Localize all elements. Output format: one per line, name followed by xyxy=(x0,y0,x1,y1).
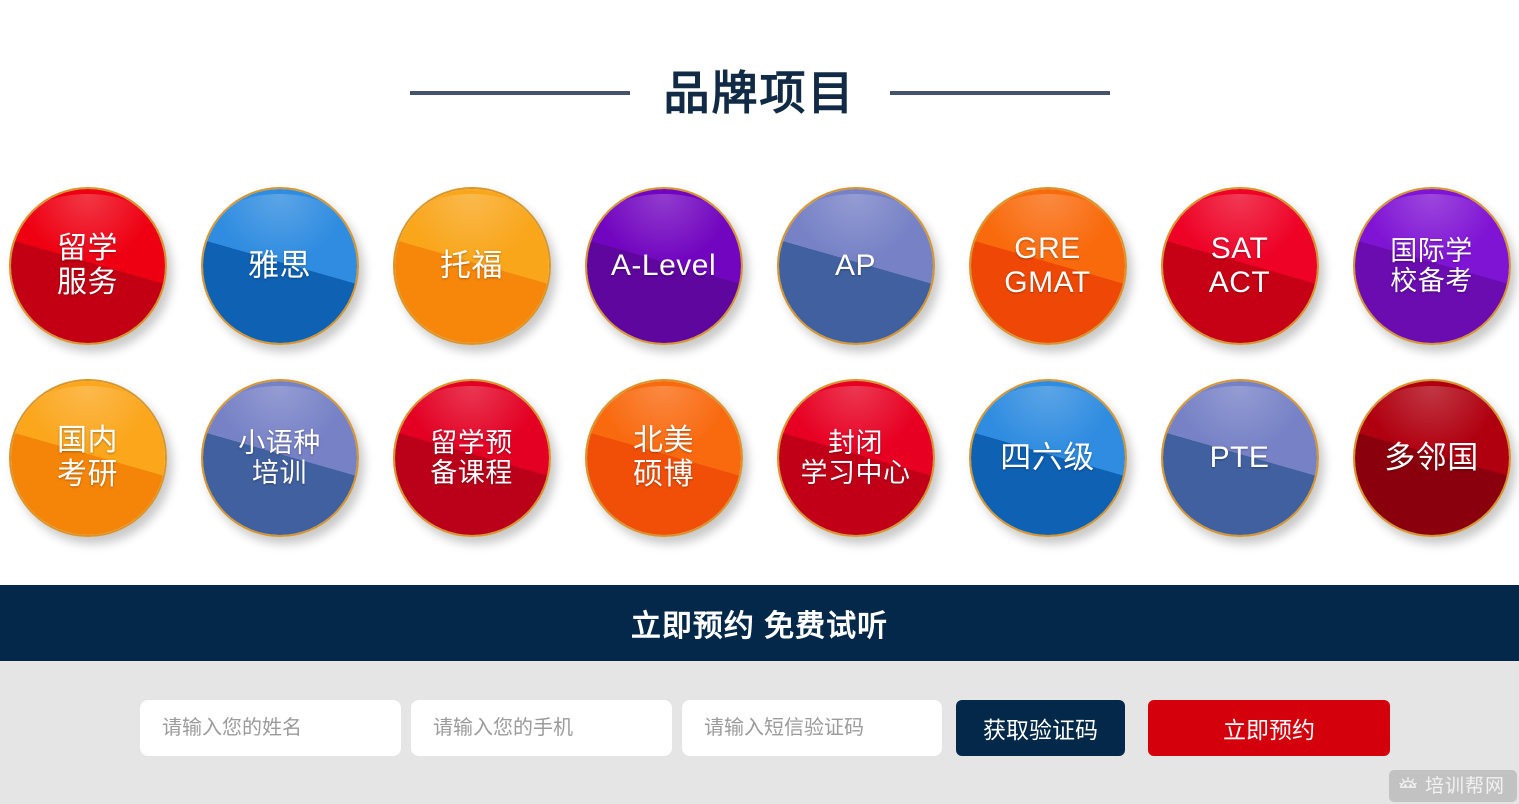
program-badge-label-line: 托福 xyxy=(440,249,503,284)
program-badge-label-line: 考研 xyxy=(57,458,118,492)
program-badge-label-line: GRE xyxy=(1004,232,1090,266)
program-badge-label-line: 四六级 xyxy=(1000,441,1095,476)
watermark-label: 培训帮网 xyxy=(1425,777,1505,796)
program-badge-label-line: 小语种 xyxy=(238,428,321,458)
program-badge-封闭学习中心[interactable]: 封闭学习中心 xyxy=(777,379,935,537)
program-badge-label-line: 国际学 xyxy=(1390,236,1473,266)
program-badge-label: PTE xyxy=(1210,441,1270,475)
program-badge-label: 封闭学习中心 xyxy=(801,428,911,488)
program-badge-label-line: AP xyxy=(835,249,876,283)
program-badge-多邻国[interactable]: 多邻国 xyxy=(1353,379,1511,537)
program-badge-gregmat[interactable]: GREGMAT xyxy=(969,187,1127,345)
program-badge-label-line: 封闭 xyxy=(801,428,911,458)
program-badge-label-line: 留学 xyxy=(57,232,118,266)
get-sms-code-button[interactable]: 获取验证码 xyxy=(956,700,1125,756)
program-badge-label: 四六级 xyxy=(1000,441,1095,476)
program-badge-label-line: A-Level xyxy=(611,249,716,283)
program-badge-label-line: PTE xyxy=(1210,441,1270,475)
program-badge-label: 留学预备课程 xyxy=(430,428,513,488)
program-badge-label: 留学服务 xyxy=(57,232,118,299)
program-badge-pte[interactable]: PTE xyxy=(1161,379,1319,537)
program-badge-小语种培训[interactable]: 小语种培训 xyxy=(201,379,359,537)
heading-rule-left xyxy=(410,91,630,95)
sun-face-icon xyxy=(1398,776,1418,796)
program-badge-ap[interactable]: AP xyxy=(777,187,935,345)
program-badges-row-1: 留学服务雅思托福A-LevelAPGREGMATSATACT国际学校备考 xyxy=(0,181,1519,351)
program-badge-label: 托福 xyxy=(440,249,503,284)
program-badge-label-line: 雅思 xyxy=(248,249,311,284)
program-badge-label: 国际学校备考 xyxy=(1390,236,1473,296)
phone-input[interactable] xyxy=(411,700,672,756)
program-badge-label: AP xyxy=(835,249,876,283)
cta-banner: 立即预约 免费试听 xyxy=(0,585,1519,661)
heading-rule-right xyxy=(890,91,1110,95)
program-badges-grid: 留学服务雅思托福A-LevelAPGREGMATSATACT国际学校备考 国内考… xyxy=(0,176,1519,558)
page-title: 品牌项目 xyxy=(664,70,856,116)
program-badge-label-line: 多邻国 xyxy=(1384,441,1479,476)
program-badge-雅思[interactable]: 雅思 xyxy=(201,187,359,345)
program-badge-label: GREGMAT xyxy=(1004,232,1090,299)
program-badge-label: 北美硕博 xyxy=(633,424,694,491)
booking-form-strip: 获取验证码 立即预约 xyxy=(0,661,1519,804)
program-badge-label-line: 校备考 xyxy=(1390,266,1473,296)
program-badge-a-level[interactable]: A-Level xyxy=(585,187,743,345)
program-badge-satact[interactable]: SATACT xyxy=(1161,187,1319,345)
cta-banner-text: 立即预约 免费试听 xyxy=(631,601,888,645)
program-badge-北美硕博[interactable]: 北美硕博 xyxy=(585,379,743,537)
program-badge-label-line: 硕博 xyxy=(633,458,694,492)
program-badge-托福[interactable]: 托福 xyxy=(393,187,551,345)
program-badge-label-line: 培训 xyxy=(238,458,321,488)
program-badge-label-line: 服务 xyxy=(57,266,118,300)
brand-programs-page: 品牌项目 留学服务雅思托福A-LevelAPGREGMATSATACT国际学校备… xyxy=(0,0,1519,804)
program-badge-label-line: 北美 xyxy=(633,424,694,458)
program-badge-留学预备课程[interactable]: 留学预备课程 xyxy=(393,379,551,537)
program-badge-label-line: ACT xyxy=(1209,266,1271,300)
program-badge-label: 雅思 xyxy=(248,249,311,284)
program-badge-label: 国内考研 xyxy=(57,424,118,491)
program-badge-label-line: SAT xyxy=(1209,232,1271,266)
sms-code-input[interactable] xyxy=(682,700,942,756)
program-badge-label: 小语种培训 xyxy=(238,428,321,488)
program-badge-label: 多邻国 xyxy=(1384,441,1479,476)
program-badge-label: SATACT xyxy=(1209,232,1271,299)
program-badge-国内考研[interactable]: 国内考研 xyxy=(9,379,167,537)
program-badge-label-line: GMAT xyxy=(1004,266,1090,300)
program-badge-四六级[interactable]: 四六级 xyxy=(969,379,1127,537)
name-input[interactable] xyxy=(140,700,401,756)
section-heading: 品牌项目 xyxy=(0,58,1519,128)
program-badge-label: A-Level xyxy=(611,249,716,283)
program-badge-label-line: 备课程 xyxy=(430,458,513,488)
site-watermark: 培训帮网 xyxy=(1389,770,1517,802)
submit-booking-button[interactable]: 立即预约 xyxy=(1148,700,1390,756)
program-badge-label-line: 学习中心 xyxy=(801,458,911,488)
program-badge-label-line: 国内 xyxy=(57,424,118,458)
program-badge-国际学校备考[interactable]: 国际学校备考 xyxy=(1353,187,1511,345)
booking-form: 获取验证码 立即预约 xyxy=(140,700,1390,756)
program-badge-label-line: 留学预 xyxy=(430,428,513,458)
program-badge-留学服务[interactable]: 留学服务 xyxy=(9,187,167,345)
program-badges-row-2: 国内考研小语种培训留学预备课程北美硕博封闭学习中心四六级PTE多邻国 xyxy=(0,373,1519,543)
